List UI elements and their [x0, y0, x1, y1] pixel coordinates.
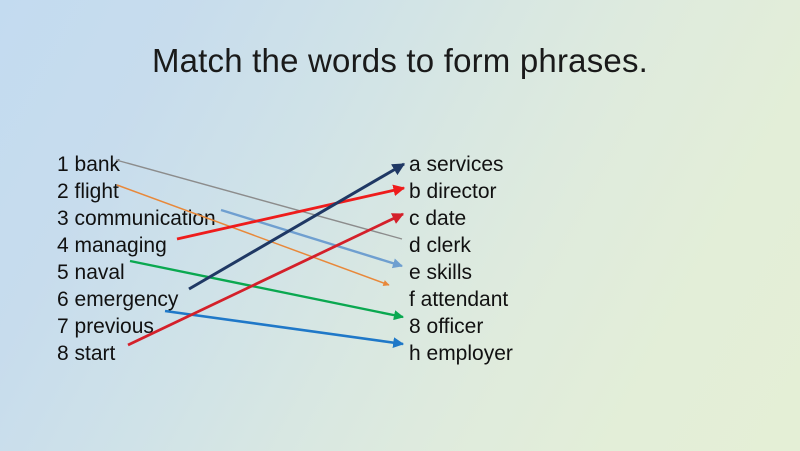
left-item-7[interactable]: 7 previous — [57, 313, 216, 340]
slide-canvas: Match the words to form phrases. 1 bank … — [0, 0, 800, 451]
right-item-f[interactable]: f attendant — [409, 286, 513, 313]
right-item-e[interactable]: e skills — [409, 259, 513, 286]
right-item-b[interactable]: b director — [409, 178, 513, 205]
right-item-a[interactable]: a services — [409, 151, 513, 178]
left-item-2[interactable]: 2 flight — [57, 178, 216, 205]
left-item-8[interactable]: 8 start — [57, 340, 216, 367]
right-item-g[interactable]: 8 officer — [409, 313, 513, 340]
connector-communication-to-skills — [221, 210, 402, 266]
left-item-6[interactable]: 6 emergency — [57, 286, 216, 313]
right-item-c[interactable]: c date — [409, 205, 513, 232]
connector-emergency-to-services — [189, 164, 404, 289]
right-item-h[interactable]: h employer — [409, 340, 513, 367]
page-title: Match the words to form phrases. — [0, 42, 800, 80]
left-item-5[interactable]: 5 naval — [57, 259, 216, 286]
left-item-3[interactable]: 3 communication — [57, 205, 216, 232]
left-item-4[interactable]: 4 managing — [57, 232, 216, 259]
left-word-column: 1 bank 2 flight 3 communication 4 managi… — [57, 151, 216, 367]
right-item-d[interactable]: d clerk — [409, 232, 513, 259]
right-word-column: a services b director c date d clerk e s… — [409, 151, 513, 367]
left-item-1[interactable]: 1 bank — [57, 151, 216, 178]
